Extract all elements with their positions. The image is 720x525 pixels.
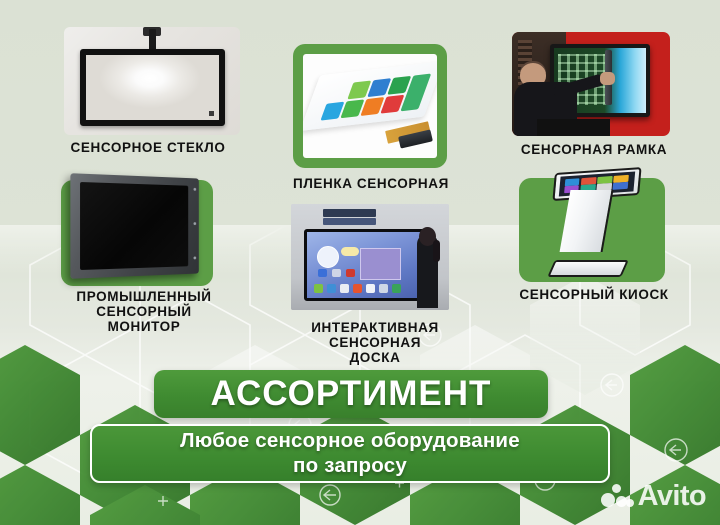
dock-icon [327,284,336,293]
technician-hand [600,72,615,85]
product-label-touch-glass: СЕНСОРНОЕ СТЕКЛО [20,140,276,155]
dock-icon [340,284,349,293]
kiosk-tile [564,178,579,186]
board-app-icon [332,269,341,277]
board-clock-widget-icon [317,246,339,268]
kiosk-tile [581,177,596,185]
kiosk-tile [613,182,628,190]
assortment-banner[interactable]: АССОРТИМЕНТ [154,370,548,418]
kiosk-tile [597,175,612,183]
avito-wordmark: Avito [638,480,706,513]
assortment-headline: АССОРТИМЕНТ [211,374,492,414]
kiosk-body-column [560,190,614,252]
product-card-touch-kiosk[interactable] [513,166,671,286]
product-card-touch-frame[interactable] [512,32,670,136]
board-open-window [360,248,401,280]
industrial-monitor-screen [80,182,188,270]
touch-frame-photo [512,32,670,136]
avito-watermark: Avito [601,480,706,513]
glass-panel-frame [80,49,225,126]
product-card-interactive-board[interactable] [291,204,449,310]
kiosk-tile [614,174,629,182]
product-card-touch-film[interactable] [293,44,447,178]
product-label-touch-film: ПЛЕНКА СЕНСОРНАЯ [248,176,494,191]
dock-icon [366,284,375,293]
glass-corner-dot-icon [209,111,214,116]
touch-film-photo [303,54,437,158]
presenter-hair [433,240,440,262]
board-top-panel [323,209,377,216]
product-label-touch-frame: СЕНСОРНАЯ РАМКА [470,142,718,157]
request-banner[interactable]: Любое сенсорное оборудование по запросу [90,424,610,483]
avito-dot [626,499,634,507]
kiosk-base [547,260,628,277]
dock-icon [392,284,401,293]
dock-icon [353,284,362,293]
board-display [304,229,425,301]
avito-logo-icon [601,484,635,510]
avito-dot [612,484,621,493]
board-dock [314,284,388,295]
interactive-board-photo [291,204,449,310]
dock-icon [379,284,388,293]
dock-icon [314,284,323,293]
monitor-button-icon [194,256,197,259]
board-app-icon [346,269,355,277]
board-control-panel [323,218,377,225]
avito-dot [616,496,627,507]
request-subline: Любое сенсорное оборудование по запросу [180,429,520,477]
avito-dot [601,493,615,507]
frame-floor-furniture [537,119,610,136]
monitor-button-icon [194,188,197,191]
product-label-interactive-board: ИНТЕРАКТИВНАЯ СЕНСОРНАЯ ДОСКА [262,320,488,365]
monitor-button-icon [194,222,197,225]
board-weather-widget-icon [341,247,359,256]
touch-kiosk-photo [513,166,671,286]
touch-glass-photo [64,27,240,135]
product-card-industrial-monitor[interactable] [58,172,218,288]
poster-canvas: СЕНСОРНОЕ СТЕКЛО ПЛЕНКА СЕНСОРНАЯ [0,0,720,525]
board-app-icon [318,269,327,277]
industrial-monitor-photo [70,173,198,279]
product-label-industrial-monitor: ПРОМЫШЛЕННЫЙ СЕНСОРНЫЙ МОНИТОР [38,289,250,334]
product-label-touch-kiosk: СЕНСОРНЫЙ КИОСК [470,287,718,302]
